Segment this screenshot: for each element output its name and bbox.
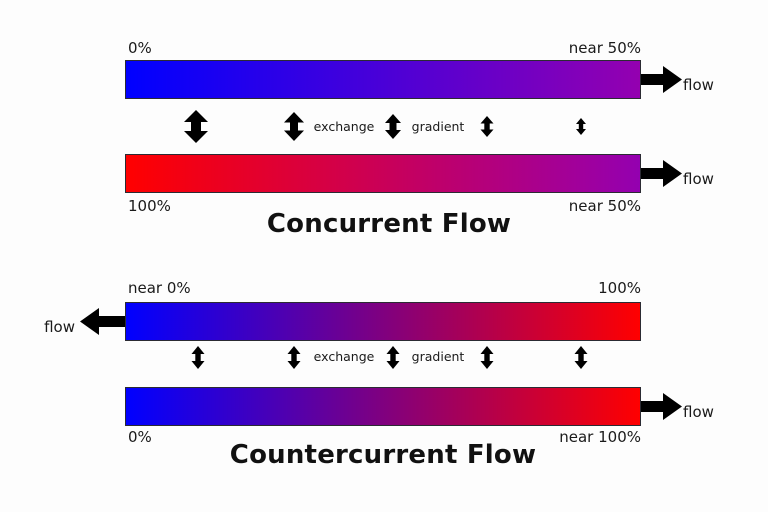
countercurrent-section-title: Countercurrent Flow [230, 442, 536, 468]
countercurrent-lower-vessel [125, 387, 641, 426]
countercurrent-upper-flow-arrow-icon [79, 305, 125, 338]
countercurrent-exchange-arrow-3-icon [386, 346, 401, 369]
countercurrent-exchange-text-right: gradient [412, 351, 465, 364]
concurrent-exchange-arrow-2-icon [283, 112, 305, 141]
concurrent-upper-left-label: 0% [128, 41, 152, 56]
concurrent-upper-vessel [125, 60, 641, 99]
concurrent-lower-flow-arrow-icon [641, 157, 683, 190]
diagram-canvas: 0% near 50% flow exchange gradient flow … [0, 0, 768, 512]
concurrent-exchange-arrow-1-icon [183, 110, 209, 143]
countercurrent-exchange-text-left: exchange [314, 351, 375, 364]
countercurrent-upper-vessel [125, 302, 641, 341]
concurrent-upper-right-label: near 50% [569, 41, 641, 56]
countercurrent-lower-flow-label: flow [683, 405, 714, 420]
concurrent-exchange-arrow-3-icon [384, 114, 402, 139]
countercurrent-exchange-arrow-4-icon [480, 346, 495, 369]
concurrent-exchange-arrow-5-icon [575, 118, 587, 135]
countercurrent-upper-flow-label: flow [44, 320, 75, 335]
countercurrent-lower-left-label: 0% [128, 430, 152, 445]
concurrent-lower-flow-label: flow [683, 172, 714, 187]
countercurrent-upper-left-label: near 0% [128, 281, 191, 296]
concurrent-upper-flow-arrow-icon [641, 63, 683, 96]
concurrent-upper-flow-label: flow [683, 78, 714, 93]
countercurrent-exchange-arrow-1-icon [191, 346, 206, 369]
concurrent-lower-vessel [125, 154, 641, 193]
countercurrent-lower-right-label: near 100% [559, 430, 641, 445]
countercurrent-exchange-arrow-5-icon [574, 346, 589, 369]
countercurrent-upper-right-label: 100% [598, 281, 641, 296]
countercurrent-lower-flow-arrow-icon [641, 390, 683, 423]
countercurrent-exchange-arrow-2-icon [287, 346, 302, 369]
concurrent-lower-left-label: 100% [128, 199, 171, 214]
concurrent-section-title: Concurrent Flow [267, 211, 511, 237]
concurrent-lower-right-label: near 50% [569, 199, 641, 214]
concurrent-exchange-text-left: exchange [314, 121, 375, 134]
concurrent-exchange-arrow-4-icon [480, 116, 495, 137]
concurrent-exchange-text-right: gradient [412, 121, 465, 134]
